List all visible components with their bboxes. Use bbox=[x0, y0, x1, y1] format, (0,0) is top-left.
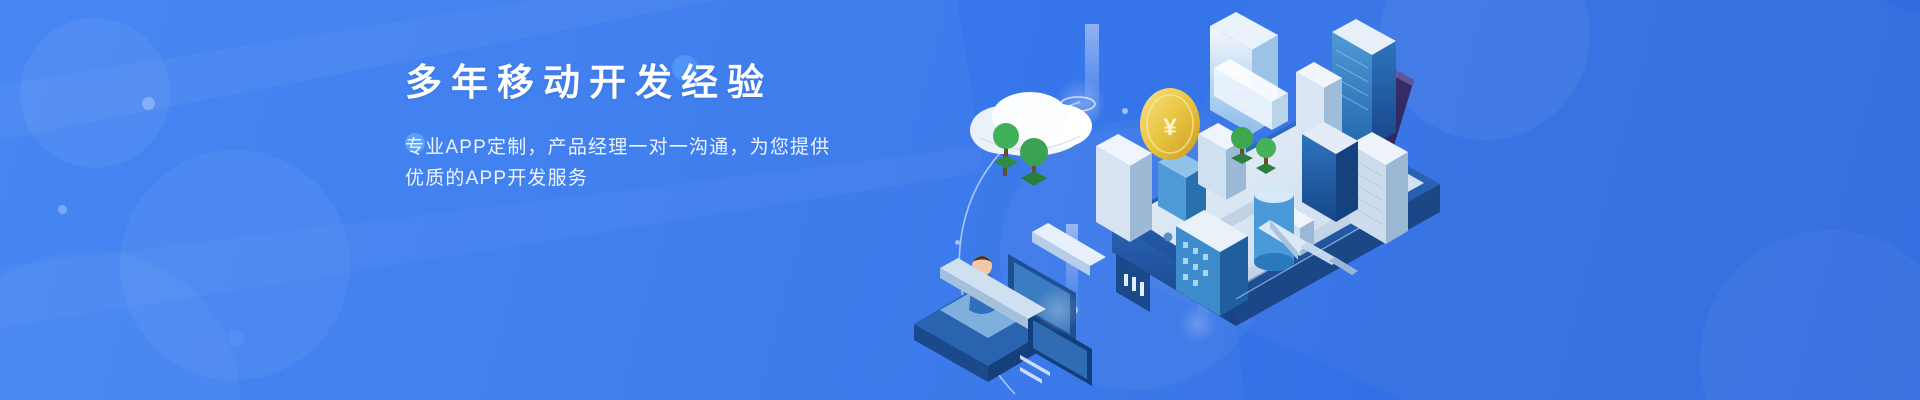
banner-subtitle-line-1: 专业APP定制，产品经理一对一沟通，为您提供 bbox=[405, 132, 925, 163]
promo-banner: 多年移动开发经验 专业APP定制，产品经理一对一沟通，为您提供 优质的APP开发… bbox=[0, 0, 1920, 400]
banner-subtitle-line-2: 优质的APP开发服务 bbox=[405, 163, 925, 194]
decorative-circle bbox=[20, 18, 170, 168]
banner-headline: 多年移动开发经验 bbox=[405, 60, 925, 106]
decorative-dot bbox=[142, 97, 155, 110]
decorative-dot bbox=[58, 205, 67, 214]
isometric-city-illustration: ¥ bbox=[880, 0, 1440, 400]
banner-copy: 多年移动开发经验 专业APP定制，产品经理一对一沟通，为您提供 优质的APP开发… bbox=[405, 60, 925, 194]
yen-coin-icon: ¥ bbox=[1140, 88, 1200, 160]
svg-text:¥: ¥ bbox=[1163, 114, 1177, 141]
decorative-dot bbox=[228, 330, 244, 346]
banner-subtitle: 专业APP定制，产品经理一对一沟通，为您提供 优质的APP开发服务 bbox=[405, 132, 925, 194]
